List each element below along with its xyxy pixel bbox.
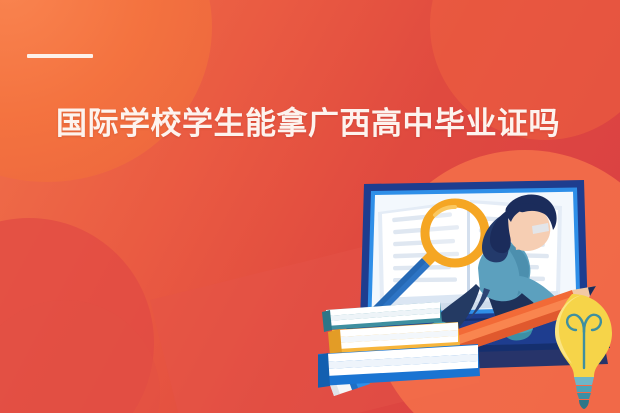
light-bulb-graphic	[555, 294, 612, 409]
banner: 国际学校学生能拿广西高中毕业证吗	[0, 0, 620, 413]
page-title: 国际学校学生能拿广西高中毕业证吗	[56, 104, 560, 144]
title-underline-rule	[27, 54, 93, 58]
online-learning-illustration	[318, 172, 620, 413]
